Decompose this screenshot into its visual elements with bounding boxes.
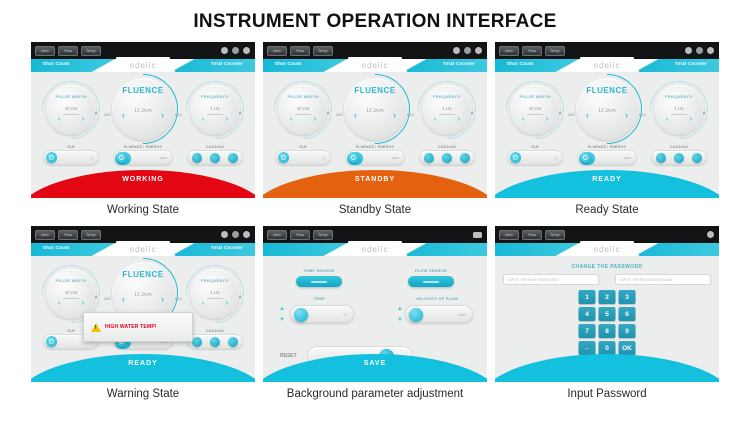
restore-icon[interactable] [232,47,239,54]
header-tabs: Main Para Setup [35,46,101,56]
knob-decrement-icon[interactable]: ‹ [202,300,204,307]
knob-marker-dot [95,112,97,114]
device-body: PULSE WIDTH 10 ms ‹ › FLUENCE 12 J/cm MI… [31,72,255,198]
device-header: Main Para Setup [495,226,719,243]
minimize-icon[interactable] [685,47,692,54]
knob-increment-icon[interactable]: › [393,110,396,120]
knob-row: PULSE WIDTH 10 ms ‹ › FLUENCE 12 J/cm MI… [31,72,255,146]
panel-cell-ready: Main Para Setup Shot Count Total Counter… [495,42,719,225]
counter-band-right [403,243,487,256]
slider-left-label: SLR [508,145,562,149]
knob-underline [295,114,311,115]
knob-underline [439,114,455,115]
temp-decrement-icon[interactable]: ▼ [279,317,285,323]
header-tab-para[interactable]: Para [290,230,310,240]
header-tab-main[interactable]: Main [35,46,55,56]
panel-caption-input-password: Input Password [495,382,719,409]
knob-decrement-icon[interactable]: ‹ [290,116,292,123]
key-0[interactable]: 0 [599,341,616,355]
knob-increment-icon[interactable]: › [82,300,84,307]
knob-pulse-width[interactable]: PULSE WIDTH 10 ms ‹ › [46,85,96,135]
knob-pulse-width-title: PULSE WIDTH [510,94,560,99]
window-buttons [685,47,714,54]
knob-increment-icon[interactable]: › [458,116,460,123]
device-panel-working[interactable]: Main Para Setup Shot Count Total Counter… [31,42,255,198]
knob-fluence-title: FLUENCE [344,86,406,95]
slider-left-value: 0 [555,156,557,160]
temp-label: TEMP [289,296,349,301]
status-label: READY [592,176,622,198]
header-tab-main[interactable]: Main [267,46,287,56]
minimize-icon[interactable] [221,47,228,54]
knob-decrement-icon[interactable]: ‹ [434,116,436,123]
flow-sensor-label: FLOW SENSOR [401,268,461,273]
knob-underline [671,114,687,115]
knob-fluence[interactable]: FLUENCE 12 J/cm MIN MAX ‹ › [112,78,174,140]
knob-underline [207,298,223,299]
knob-row: PULSE WIDTH 10 ms ‹ › FLUENCE 12 J/cm MI… [495,72,719,146]
panel-cell-standby: Main Para Setup Shot Count Total Counter… [263,42,487,225]
knob-frequency-value: 1 Hz [190,290,240,295]
knob-min-label: MIN [568,113,574,117]
cooling-buttons[interactable]: COOLING [651,150,707,165]
device-panel-standby[interactable]: Main Para Setup Shot Count Total Counter… [263,42,487,198]
knob-decrement-icon[interactable]: ‹ [354,110,357,120]
knob-increment-icon[interactable]: › [690,116,692,123]
shot-count-label: Shot Count [275,61,302,66]
cooling-button-2[interactable] [210,337,220,347]
slider-left[interactable]: SLR 0 [507,150,563,165]
flow-spinner[interactable]: ▲ ▼ [397,306,403,323]
window-buttons [473,232,482,238]
knob-decrement-icon[interactable]: ‹ [586,110,589,120]
status-label: READY [128,360,158,382]
new-password-field[interactable]: INPUT THE NEW PASSWORD [503,274,599,285]
slider-left-value: 0 [91,156,93,160]
temp-sensor-label: TEMP SENSOR [289,268,349,273]
device-body: CHANGE THE PASSWORD INPUT THE NEW PASSWO… [495,256,719,382]
reset-label: RESET [280,353,297,359]
knob-row: PULSE WIDTH 10 ms ‹ › FLUENCE 12 J/cm MI… [263,72,487,146]
knob-marker-dot [239,296,241,298]
header-tabs: Main Para Setup [267,46,333,56]
header-tab-setup[interactable]: Setup [81,46,101,56]
minimize-icon[interactable] [221,231,228,238]
restore-icon[interactable] [464,47,471,54]
knob-frequency-title: FREQUENCY [190,94,240,99]
temp-slider-handle[interactable] [294,308,308,322]
slider-center-value: Auto [392,156,399,160]
knob-increment-icon[interactable]: › [82,116,84,123]
counter-band: odelic [495,243,719,256]
slider-left-handle[interactable] [510,152,521,163]
knob-frequency-value: 1 Hz [422,106,472,111]
key-9[interactable]: 9 [619,324,636,338]
counter-band: odelic [263,243,487,256]
key-ok[interactable]: OK [619,341,636,355]
device-header: Main Para Setup [495,42,719,59]
knob-decrement-icon[interactable]: ‹ [666,116,668,123]
knob-decrement-icon[interactable]: ‹ [58,116,60,123]
close-icon[interactable] [243,231,250,238]
header-tabs: Main Para Setup [35,230,101,240]
flow-slider[interactable]: L/min [405,305,473,323]
temp-unit: °C [343,313,347,317]
status-label: STANDBY [355,176,395,198]
slider-center-value: Auto [160,156,167,160]
panel-cell-background-parameters: Main Para Setup odelic TEMP SENSOR FLOW … [263,226,487,409]
knob-frequency[interactable]: FREQUENCY 1 Hz ‹ › [422,85,472,135]
cooling-button-2[interactable] [442,153,452,163]
slider-left-handle[interactable] [278,152,289,163]
slider-center[interactable]: FLUENCE / ENERGY Auto [577,150,637,165]
total-counter-label: Total Counter [211,245,243,250]
panel-cell-warning: Main Para Setup Shot Count Total Counter… [31,226,255,409]
window-buttons [707,231,714,238]
window-buttons [221,47,250,54]
total-counter-label: Total Counter [675,61,707,66]
knob-fluence[interactable]: FLUENCE 12 J/cm MIN MAX ‹ › [576,78,638,140]
knob-max-label: MAX [175,297,182,301]
key-2[interactable]: 2 [599,290,616,304]
cooling-label: COOLING [188,329,242,333]
knob-underline [207,114,223,115]
panel-caption-ready: Ready State [495,198,719,225]
knob-decrement-icon[interactable]: ‹ [522,116,524,123]
home-icon[interactable] [707,231,714,238]
counter-band: Shot Count Total Counter odelic [31,243,255,256]
knob-pulse-width-title: PULSE WIDTH [46,278,96,283]
knob-marker-dot [703,112,705,114]
knob-decrement-icon[interactable]: ‹ [122,110,125,120]
knob-pulse-width-title: PULSE WIDTH [278,94,328,99]
header-tab-main[interactable]: Main [499,230,519,240]
slider-left[interactable]: SLR 0 [43,150,99,165]
knob-marker-dot [95,296,97,298]
slider-left-label: SLR [276,145,330,149]
slider-center-label: FLUENCE / ENERGY [346,145,404,149]
knob-pulse-width-value: 10 ms [510,106,560,111]
header-tab-para[interactable]: Para [58,230,78,240]
knob-increment-icon[interactable]: › [226,300,228,307]
knob-frequency-title: FREQUENCY [190,278,240,283]
panel-caption-standby: Standby State [263,198,487,225]
knob-underline [527,114,543,115]
flow-decrement-icon[interactable]: ▼ [397,317,403,323]
header-tab-setup[interactable]: Setup [545,230,565,240]
slider-center-value: Auto [624,156,631,160]
status-label: WORKING [122,176,164,198]
knob-fluence-title: FLUENCE [112,86,174,95]
knob-pulse-width-value: 10 ms [46,290,96,295]
device-body: PULSE WIDTH 10 ms ‹ › FLUENCE 12 J/cm MI… [263,72,487,198]
panel-caption-warning: Warning State [31,382,255,409]
knob-frequency-value: 1 Hz [654,106,704,111]
minimize-icon[interactable] [453,47,460,54]
message-icon[interactable] [473,232,482,238]
header-tab-para[interactable]: Para [58,46,78,56]
cooling-button-3[interactable] [228,337,238,347]
temp-slider[interactable]: °C [290,305,354,323]
counter-band-left [495,243,579,256]
slider-center-label: FLUENCE / ENERGY [114,145,172,149]
temp-sensor-toggle[interactable] [296,276,342,287]
key-5[interactable]: 5 [599,307,616,321]
counter-band: Shot Count Total Counter odelic [495,59,719,72]
header-tab-para[interactable]: Para [522,46,542,56]
knob-pulse-width-value: 10 ms [46,106,96,111]
device-header: Main Para Setup [31,42,255,59]
warning-dialog[interactable]: HIGH WATER TEMP! [83,312,193,342]
key-1[interactable]: 1 [579,290,596,304]
counter-band-left [263,243,347,256]
knob-increment-icon[interactable]: › [226,116,228,123]
header-tab-main[interactable]: Main [267,230,287,240]
knob-max-label: MAX [175,113,182,117]
device-body: PULSE WIDTH 10 ms ‹ › FLUENCE 12 J/cm MI… [31,256,255,382]
knob-max-label: MAX [639,113,646,117]
knob-underline [63,114,79,115]
panel-grid: Main Para Setup Shot Count Total Counter… [0,42,750,409]
flow-sensor-toggle[interactable] [408,276,454,287]
header-tab-setup[interactable]: Setup [81,230,101,240]
temp-increment-icon[interactable]: ▲ [279,306,285,312]
flow-label: VELOCITY OF FLOW [407,296,467,301]
header-tabs: Main Para Setup [267,230,333,240]
shot-count-label: Shot Count [43,61,70,66]
cooling-button-2[interactable] [674,153,684,163]
slider-center-handle[interactable] [116,152,127,163]
knob-fluence-title: FLUENCE [576,86,638,95]
warning-triangle-icon [91,323,101,332]
restore-icon[interactable] [696,47,703,54]
panel-cell-input-password: Main Para Setup odelic CHANGE THE PASSWO… [495,226,719,409]
knob-decrement-icon[interactable]: ‹ [202,116,204,123]
knob-frequency[interactable]: FREQUENCY 1 Hz ‹ › [190,269,240,319]
shot-count-label: Shot Count [507,61,534,66]
knob-increment-icon[interactable]: › [625,110,628,120]
cooling-button-1[interactable] [656,153,666,163]
header-tab-setup[interactable]: Setup [313,46,333,56]
password-title: CHANGE THE PASSWORD [495,264,719,270]
header-tab-para[interactable]: Para [290,46,310,56]
knob-pulse-width[interactable]: PULSE WIDTH 10 ms ‹ › [278,85,328,135]
knob-fluence[interactable]: FLUENCE 12 J/cm MIN MAX ‹ › [344,78,406,140]
knob-fluence-title: FLUENCE [112,270,174,279]
restore-icon[interactable] [232,231,239,238]
flow-slider-handle[interactable] [409,308,423,322]
device-panel-background-parameters[interactable]: Main Para Setup odelic TEMP SENSOR FLOW … [263,226,487,382]
header-tabs: Main Para Setup [499,46,565,56]
device-body: TEMP SENSOR FLOW SENSOR TEMP ▲ ▼ °C VELO… [263,256,487,382]
cooling-button-2[interactable] [210,153,220,163]
knob-min-label: MIN [104,297,110,301]
knob-pulse-width-title: PULSE WIDTH [46,94,96,99]
cooling-button-1[interactable] [192,337,202,347]
counter-band: Shot Count Total Counter odelic [31,59,255,72]
flow-unit: L/min [458,313,466,317]
cooling-buttons[interactable]: COOLING [187,150,243,165]
device-body: PULSE WIDTH 10 ms ‹ › FLUENCE 12 J/cm MI… [495,72,719,198]
knob-increment-icon[interactable]: › [161,294,164,304]
key-4[interactable]: 4 [579,307,596,321]
device-panel-ready[interactable]: Main Para Setup Shot Count Total Counter… [495,42,719,198]
slider-left-handle[interactable] [46,336,57,347]
cooling-button-3[interactable] [692,153,702,163]
knob-increment-icon[interactable]: › [546,116,548,123]
cooling-buttons[interactable]: COOLING [187,334,243,349]
knob-pulse-width[interactable]: PULSE WIDTH 10 ms ‹ › [510,85,560,135]
header-tab-para[interactable]: Para [522,230,542,240]
slider-left-handle[interactable] [46,152,57,163]
device-header: Main Para Setup [263,226,487,243]
confirm-password-field[interactable]: INPUT THE PASSWORD AGAIN [615,274,711,285]
panel-caption-working: Working State [31,198,255,225]
device-panel-warning[interactable]: Main Para Setup Shot Count Total Counter… [31,226,255,382]
key-6[interactable]: 6 [619,307,636,321]
counter-band-right [635,243,719,256]
slider-center-handle[interactable] [348,152,359,163]
cooling-button-3[interactable] [460,153,470,163]
cooling-label: COOLING [188,145,242,149]
cooling-button-3[interactable] [228,153,238,163]
key-8[interactable]: 8 [599,324,616,338]
cooling-label: COOLING [652,145,706,149]
header-tab-setup[interactable]: Setup [545,46,565,56]
panel-cell-working: Main Para Setup Shot Count Total Counter… [31,42,255,225]
cooling-label: COOLING [420,145,474,149]
temp-spinner[interactable]: ▲ ▼ [279,306,285,323]
slider-center-label: FLUENCE / ENERGY [578,145,636,149]
header-tab-main[interactable]: Main [35,230,55,240]
cooling-button-1[interactable] [192,153,202,163]
slider-center[interactable]: FLUENCE / ENERGY Auto [113,150,173,165]
knob-marker-dot [559,112,561,114]
knob-frequency-value: 1 Hz [190,106,240,111]
key-3[interactable]: 3 [619,290,636,304]
knob-frequency-title: FREQUENCY [422,94,472,99]
warning-message: HIGH WATER TEMP! [105,324,157,330]
close-icon[interactable] [707,47,714,54]
close-icon[interactable] [243,47,250,54]
window-buttons [453,47,482,54]
knob-frequency[interactable]: FREQUENCY 1 Hz ‹ › [190,85,240,135]
knob-decrement-icon[interactable]: ‹ [58,300,60,307]
knob-frequency[interactable]: FREQUENCY 1 Hz ‹ › [654,85,704,135]
counter-band: Shot Count Total Counter odelic [263,59,487,72]
slider-center[interactable]: FLUENCE / ENERGY Auto [345,150,405,165]
knob-frequency-title: FREQUENCY [654,94,704,99]
window-buttons [221,231,250,238]
knob-marker-dot [327,112,329,114]
device-header: Main Para Setup [31,226,255,243]
save-label: SAVE [364,360,387,382]
knob-decrement-icon[interactable]: ‹ [122,294,125,304]
knob-increment-icon[interactable]: › [314,116,316,123]
knob-min-label: MIN [104,113,110,117]
header-tab-main[interactable]: Main [499,46,519,56]
page-title: INSTRUMENT OPERATION INTERFACE [0,0,750,42]
knob-pulse-width-value: 10 ms [278,106,328,111]
knob-marker-dot [471,112,473,114]
numeric-keypad: 1 2 3 4 5 6 7 8 9 ← 0 OK [579,290,636,355]
knob-min-label: MIN [336,113,342,117]
total-counter-label: Total Counter [211,61,243,66]
cooling-buttons[interactable]: COOLING [419,150,475,165]
shot-count-label: Shot Count [43,245,70,250]
knob-marker-dot [239,112,241,114]
close-icon[interactable] [475,47,482,54]
slider-left[interactable]: SLR 0 [275,150,331,165]
status-bar-password [495,354,719,382]
knob-increment-icon[interactable]: › [161,110,164,120]
header-tabs: Main Para Setup [499,230,565,240]
device-header: Main Para Setup [263,42,487,59]
knob-max-label: MAX [407,113,414,117]
slider-center-handle[interactable] [580,152,591,163]
knob-underline [63,298,79,299]
cooling-button-1[interactable] [424,153,434,163]
key-backspace[interactable]: ← [579,341,596,355]
total-counter-label: Total Counter [443,61,475,66]
slider-left-value: 0 [323,156,325,160]
slider-left-label: SLR [44,145,98,149]
flow-increment-icon[interactable]: ▲ [397,306,403,312]
device-panel-input-password[interactable]: Main Para Setup odelic CHANGE THE PASSWO… [495,226,719,382]
key-7[interactable]: 7 [579,324,596,338]
panel-caption-background-parameters: Background parameter adjustment [263,382,487,409]
header-tab-setup[interactable]: Setup [313,230,333,240]
